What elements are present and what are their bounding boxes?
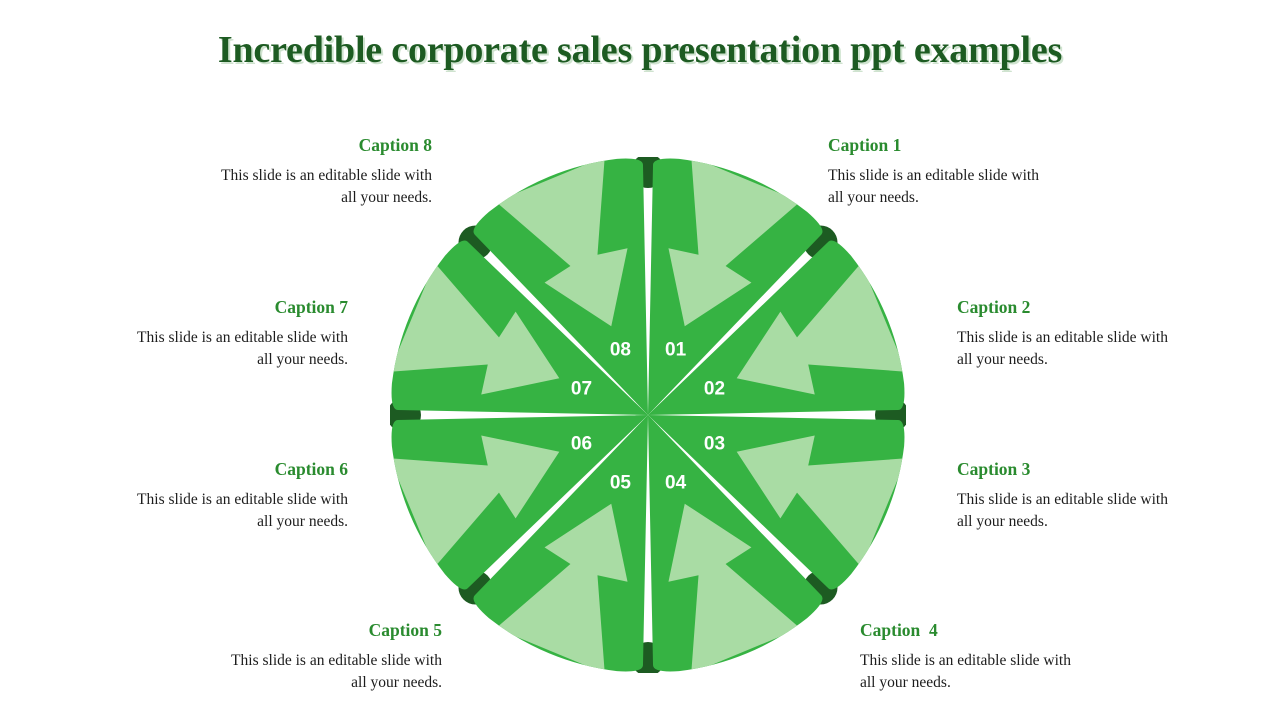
caption-heading-5: Caption 5 [180,620,442,641]
caption-body-7-line1: This slide is an editable slide with [137,329,348,346]
caption-block-7[interactable]: Caption 7 This slide is an editable slid… [86,297,348,371]
caption-block-6[interactable]: Caption 6 This slide is an editable slid… [86,459,348,533]
caption-block-5[interactable]: Caption 5 This slide is an editable slid… [180,620,442,694]
caption-heading-2: Caption 2 [957,297,1219,318]
caption-heading-8: Caption 8 [170,135,432,156]
segment-number-01: 01 [665,340,687,361]
page-title: Incredible corporate sales presentation … [0,28,1280,72]
segment-number-03: 03 [704,434,725,455]
caption-heading-6: Caption 6 [86,459,348,480]
caption-body-2-line2: all your needs. [957,351,1048,368]
caption-body-1-line1: This slide is an editable slide with [828,167,1039,184]
caption-body-3-line2: all your needs. [957,513,1048,530]
caption-body-2: This slide is an editable slide with all… [957,327,1219,371]
caption-body-4-line1: This slide is an editable slide with [860,652,1071,669]
segment-number-06: 06 [571,434,592,455]
caption-body-1-line2: all your needs. [828,189,919,206]
caption-body-8-line1: This slide is an editable slide with [221,167,432,184]
caption-body-5-line2: all your needs. [351,674,442,691]
caption-body-1: This slide is an editable slide with all… [828,165,1090,209]
caption-body-4-line2: all your needs. [860,674,951,691]
caption-body-7-line2: all your needs. [257,351,348,368]
caption-body-8-line2: all your needs. [341,189,432,206]
caption-body-3-line1: This slide is an editable slide with [957,491,1168,508]
caption-block-3[interactable]: Caption 3 This slide is an editable slid… [957,459,1219,533]
caption-body-2-line1: This slide is an editable slide with [957,329,1168,346]
caption-heading-7: Caption 7 [86,297,348,318]
segment-number-08: 08 [610,340,631,361]
segment-number-04: 04 [665,473,687,494]
segmented-circle-diagram: 0102030405060708 [390,157,906,673]
wheel-svg: 0102030405060708 [390,157,906,673]
caption-heading-4: Caption 4 [860,620,1122,641]
segment-number-02: 02 [704,378,725,399]
caption-body-5: This slide is an editable slide with all… [180,650,442,694]
caption-body-6: This slide is an editable slide with all… [86,489,348,533]
caption-body-8: This slide is an editable slide with all… [170,165,432,209]
caption-body-3: This slide is an editable slide with all… [957,489,1219,533]
caption-body-6-line1: This slide is an editable slide with [137,491,348,508]
caption-heading-3: Caption 3 [957,459,1219,480]
caption-body-5-line1: This slide is an editable slide with [231,652,442,669]
caption-block-4[interactable]: Caption 4 This slide is an editable slid… [860,620,1122,694]
caption-block-1[interactable]: Caption 1 This slide is an editable slid… [828,135,1090,209]
segment-number-05: 05 [610,473,632,494]
caption-body-7: This slide is an editable slide with all… [86,327,348,371]
caption-block-2[interactable]: Caption 2 This slide is an editable slid… [957,297,1219,371]
caption-block-8[interactable]: Caption 8 This slide is an editable slid… [170,135,432,209]
caption-body-4: This slide is an editable slide with all… [860,650,1122,694]
segment-number-07: 07 [571,378,592,399]
caption-body-6-line2: all your needs. [257,513,348,530]
caption-heading-1: Caption 1 [828,135,1090,156]
